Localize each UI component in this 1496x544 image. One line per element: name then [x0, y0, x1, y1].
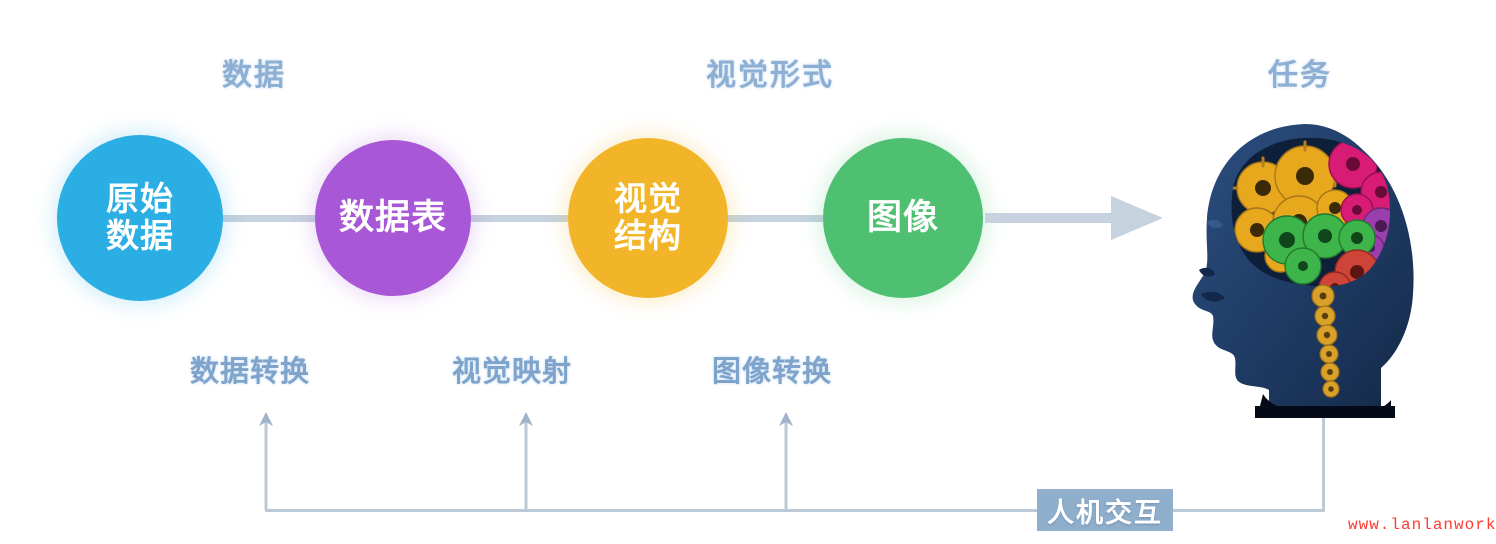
node-raw-data[interactable]: 原始 数据	[57, 135, 223, 301]
stage-label-task: 任务	[1268, 50, 1332, 94]
node-image[interactable]: 图像	[823, 138, 983, 298]
node-data-table-line1: 数据表	[339, 198, 447, 237]
flow-arrow-right-icon	[985, 190, 1170, 246]
node-visual-structure[interactable]: 视觉 结构	[568, 138, 728, 298]
connector-struct-to-image	[727, 215, 823, 222]
hci-badge-label: 人机交互	[1047, 491, 1163, 530]
feedback-riser-brain	[1322, 415, 1325, 510]
feedback-arrow-visual-mapping	[515, 410, 537, 510]
transform-label-image-transform: 图像转换	[712, 348, 832, 390]
node-visual-structure-line2: 结构	[614, 218, 682, 255]
transform-label-visual-mapping: 视觉映射	[452, 348, 572, 390]
hci-badge[interactable]: 人机交互	[1037, 489, 1173, 531]
diagram-canvas: 数据 视觉形式 任务 原始 数据 数据表 视觉 结构 图像 数据转换 视觉映射 …	[0, 0, 1496, 544]
connector-table-to-struct	[470, 215, 568, 222]
site-watermark: www.lanlanwork.com	[1348, 516, 1496, 534]
connector-raw-to-table	[222, 215, 316, 222]
stage-label-data: 数据	[222, 50, 286, 94]
feedback-arrow-image-transform	[775, 410, 797, 510]
transform-label-data-transform: 数据转换	[190, 348, 310, 390]
node-raw-data-line2: 数据	[106, 218, 174, 255]
stage-label-visual-form: 视觉形式	[706, 50, 834, 94]
node-image-line1: 图像	[867, 198, 939, 237]
node-data-table[interactable]: 数据表	[315, 140, 471, 296]
node-visual-structure-line1: 视觉	[614, 181, 682, 218]
brain-gears-head-icon	[1185, 118, 1420, 418]
node-raw-data-line1: 原始	[106, 181, 174, 218]
feedback-arrow-data-transform	[255, 410, 277, 510]
